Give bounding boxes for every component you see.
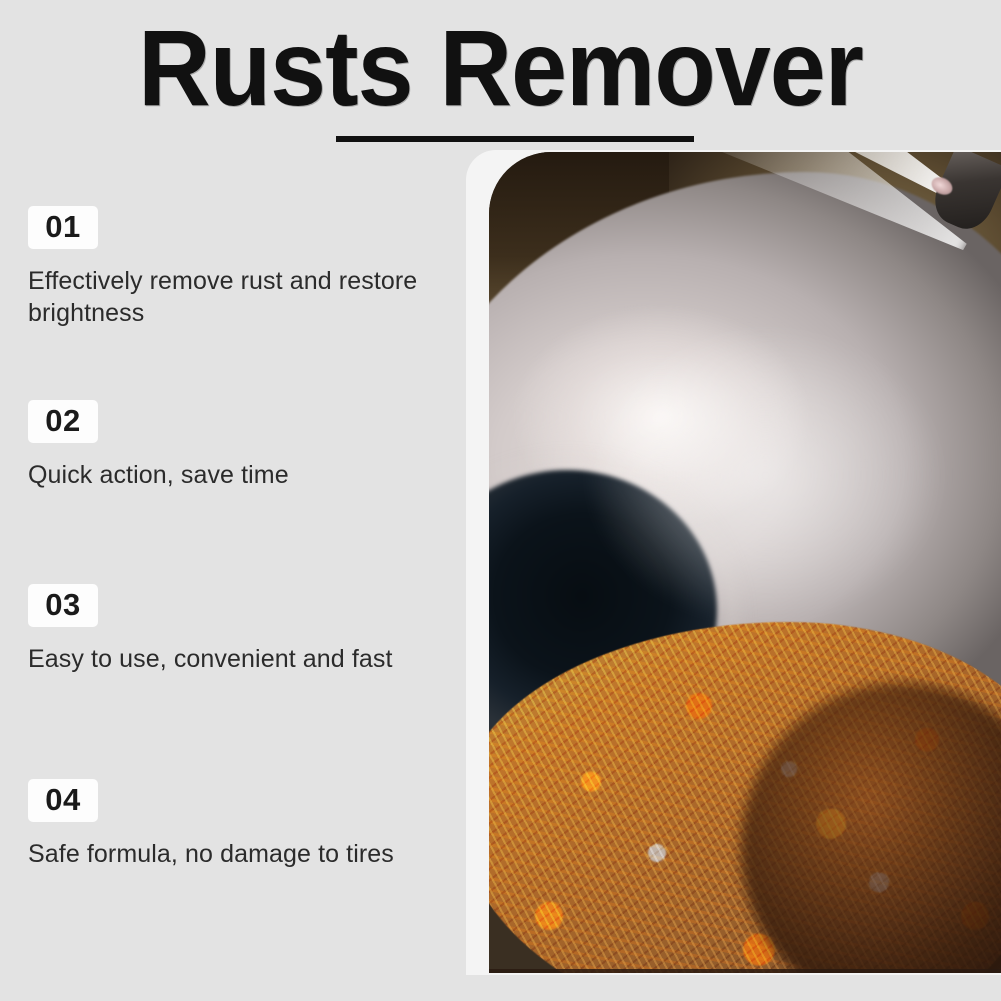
product-poster: Rusts Remover 01 Effectively remove rust… [0, 0, 1001, 1001]
feature-number-badge: 01 [28, 206, 98, 249]
feature-item: 01 Effectively remove rust and restore b… [28, 206, 458, 329]
feature-item: 02 Quick action, save time [28, 400, 458, 491]
title-block: Rusts Remover [0, 0, 1001, 150]
photo-bottom-edge [489, 969, 1001, 973]
photo-spray-mist [529, 282, 959, 712]
feature-description: Easy to use, convenient and fast [28, 643, 448, 675]
title-underline [336, 136, 694, 142]
feature-number-badge: 02 [28, 400, 98, 443]
feature-item: 03 Easy to use, convenient and fast [28, 584, 458, 675]
feature-number-badge: 04 [28, 779, 98, 822]
feature-number-badge: 03 [28, 584, 98, 627]
page-title: Rusts Remover [35, 14, 966, 122]
product-photo [489, 152, 1001, 973]
feature-description: Safe formula, no damage to tires [28, 838, 448, 870]
feature-description: Effectively remove rust and restore brig… [28, 265, 448, 329]
feature-item: 04 Safe formula, no damage to tires [28, 779, 458, 870]
feature-list: 01 Effectively remove rust and restore b… [0, 150, 468, 1001]
feature-description: Quick action, save time [28, 459, 448, 491]
